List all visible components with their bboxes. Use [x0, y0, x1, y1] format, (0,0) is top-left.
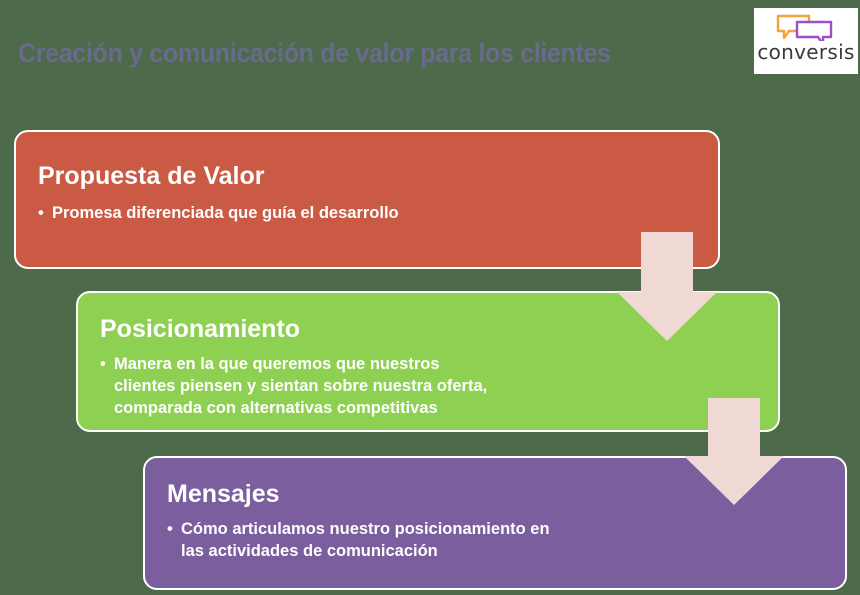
conversis-logo: conversis [754, 8, 858, 74]
logo-wordmark: conversis [757, 42, 854, 62]
flow-step-bullet: • Cómo articulamos nuestro posicionamien… [167, 519, 845, 563]
flow-step-bullet-text: Promesa diferenciada que guía el desarro… [52, 203, 399, 225]
bullet-marker-icon: • [167, 519, 181, 563]
flow-step-bullet-text: Cómo articulamos nuestro posicionamiento… [181, 519, 550, 563]
flow-step-bullet: • Promesa diferenciada que guía el desar… [38, 203, 718, 225]
arrow-down-icon [616, 232, 718, 342]
flow-step-heading: Propuesta de Valor [38, 164, 718, 189]
bullet-marker-icon: • [38, 203, 52, 225]
bullet-marker-icon: • [100, 354, 114, 419]
flow-step-propuesta-de-valor: Propuesta de Valor • Promesa diferenciad… [14, 130, 720, 269]
arrow-down-icon [683, 398, 785, 506]
flow-step-bullet-text: Manera en la que queremos que nuestros c… [114, 354, 487, 419]
flow-step-bullet: • Manera en la que queremos que nuestros… [100, 354, 778, 419]
speech-bubbles-icon [775, 13, 837, 41]
page-title: Creación y comunicación de valor para lo… [18, 38, 611, 69]
